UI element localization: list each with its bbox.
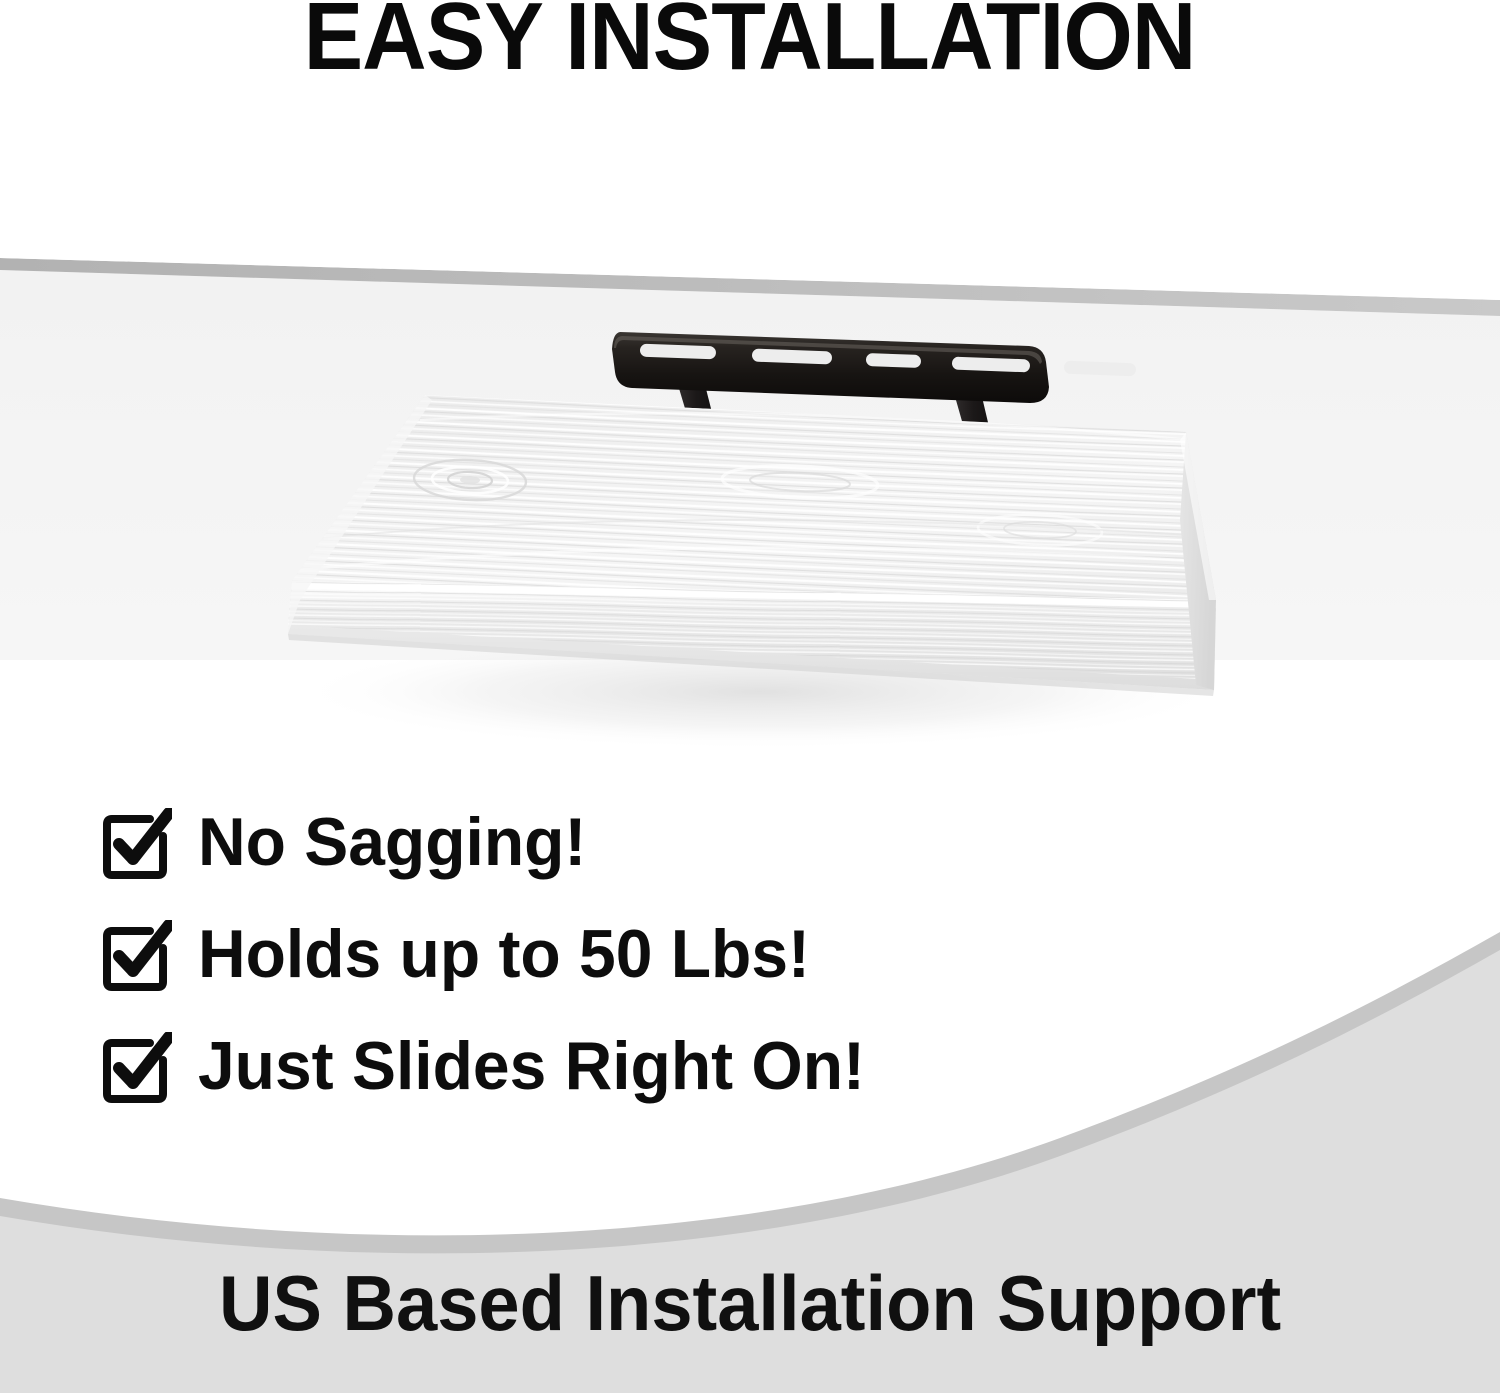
- title-container: EASY INSTALLATION: [0, 0, 1500, 92]
- checkbox-check-icon: [100, 808, 172, 880]
- footer-band: [0, 930, 1500, 1393]
- infographic-canvas: EASY INSTALLATION: [0, 0, 1500, 1393]
- feature-label: No Sagging!: [198, 808, 586, 876]
- list-item: No Sagging!: [100, 786, 1000, 898]
- footer-band-fill: [0, 950, 1500, 1393]
- page-title: EASY INSTALLATION: [304, 0, 1196, 85]
